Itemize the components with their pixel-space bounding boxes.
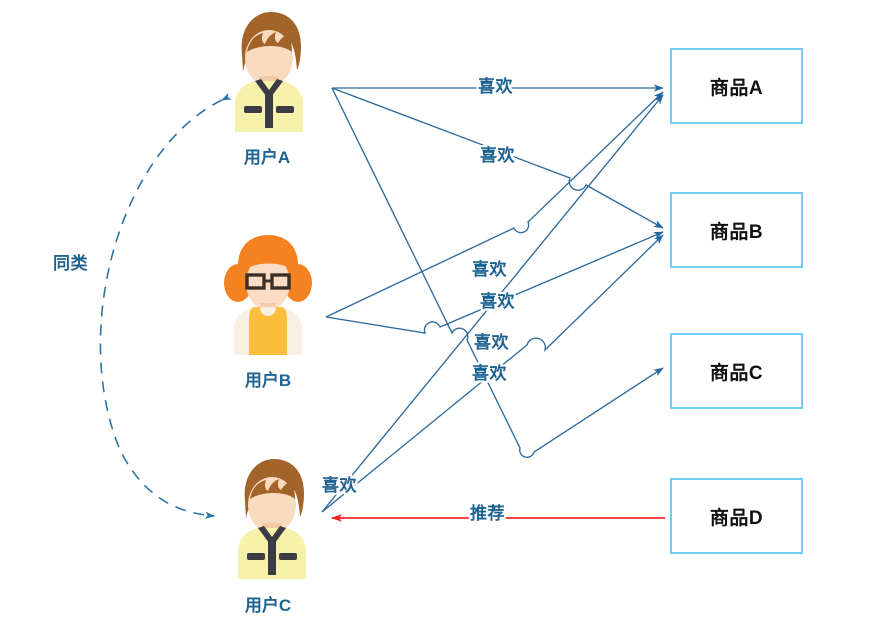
- avatar-userA[interactable]: [213, 8, 321, 132]
- edge-label-userA-itemA: 喜欢: [478, 78, 513, 95]
- zipper-icon: [268, 541, 276, 575]
- node-label-userC: 用户C: [216, 591, 320, 616]
- pocket-right-icon: [276, 106, 294, 113]
- item-label-itemD: 商品D: [710, 503, 763, 530]
- edge-userB-itemB: [326, 232, 663, 333]
- edge-label-userA-itemC: 喜欢: [474, 334, 509, 351]
- edge-similar-users-arc: [100, 100, 222, 516]
- node-label-userB: 用户B: [216, 366, 320, 391]
- zipper-icon: [265, 94, 273, 128]
- item-box-itemD[interactable]: 商品D: [670, 478, 803, 554]
- edge-label-similar: 同类: [53, 255, 88, 272]
- edge-label-recommend: 推荐: [470, 505, 505, 522]
- avatar-userC[interactable]: [216, 455, 324, 579]
- avatar-userB[interactable]: [216, 231, 320, 355]
- item-box-itemB[interactable]: 商品B: [670, 192, 803, 268]
- edge-label-userC-itemA: 喜欢: [472, 365, 507, 382]
- item-box-itemA[interactable]: 商品A: [670, 48, 803, 124]
- edge-label-userB-itemB: 喜欢: [480, 293, 515, 310]
- item-label-itemB: 商品B: [710, 217, 763, 244]
- pocket-left-icon: [244, 106, 262, 113]
- pocket-right-icon: [279, 553, 297, 560]
- edge-label-userA-itemB: 喜欢: [480, 147, 515, 164]
- edge-label-userC-itemB: 喜欢: [322, 477, 357, 494]
- item-box-itemC[interactable]: 商品C: [670, 333, 803, 409]
- edge-userB-itemA: [326, 92, 663, 317]
- item-label-itemA: 商品A: [710, 73, 763, 100]
- item-label-itemC: 商品C: [710, 358, 763, 385]
- node-label-userA: 用户A: [215, 143, 319, 168]
- edge-label-userB-itemA: 喜欢: [472, 261, 507, 278]
- pocket-left-icon: [247, 553, 265, 560]
- diagram-canvas: 用户A 用户B 用户C 商品A 商品B 商品C: [0, 0, 870, 628]
